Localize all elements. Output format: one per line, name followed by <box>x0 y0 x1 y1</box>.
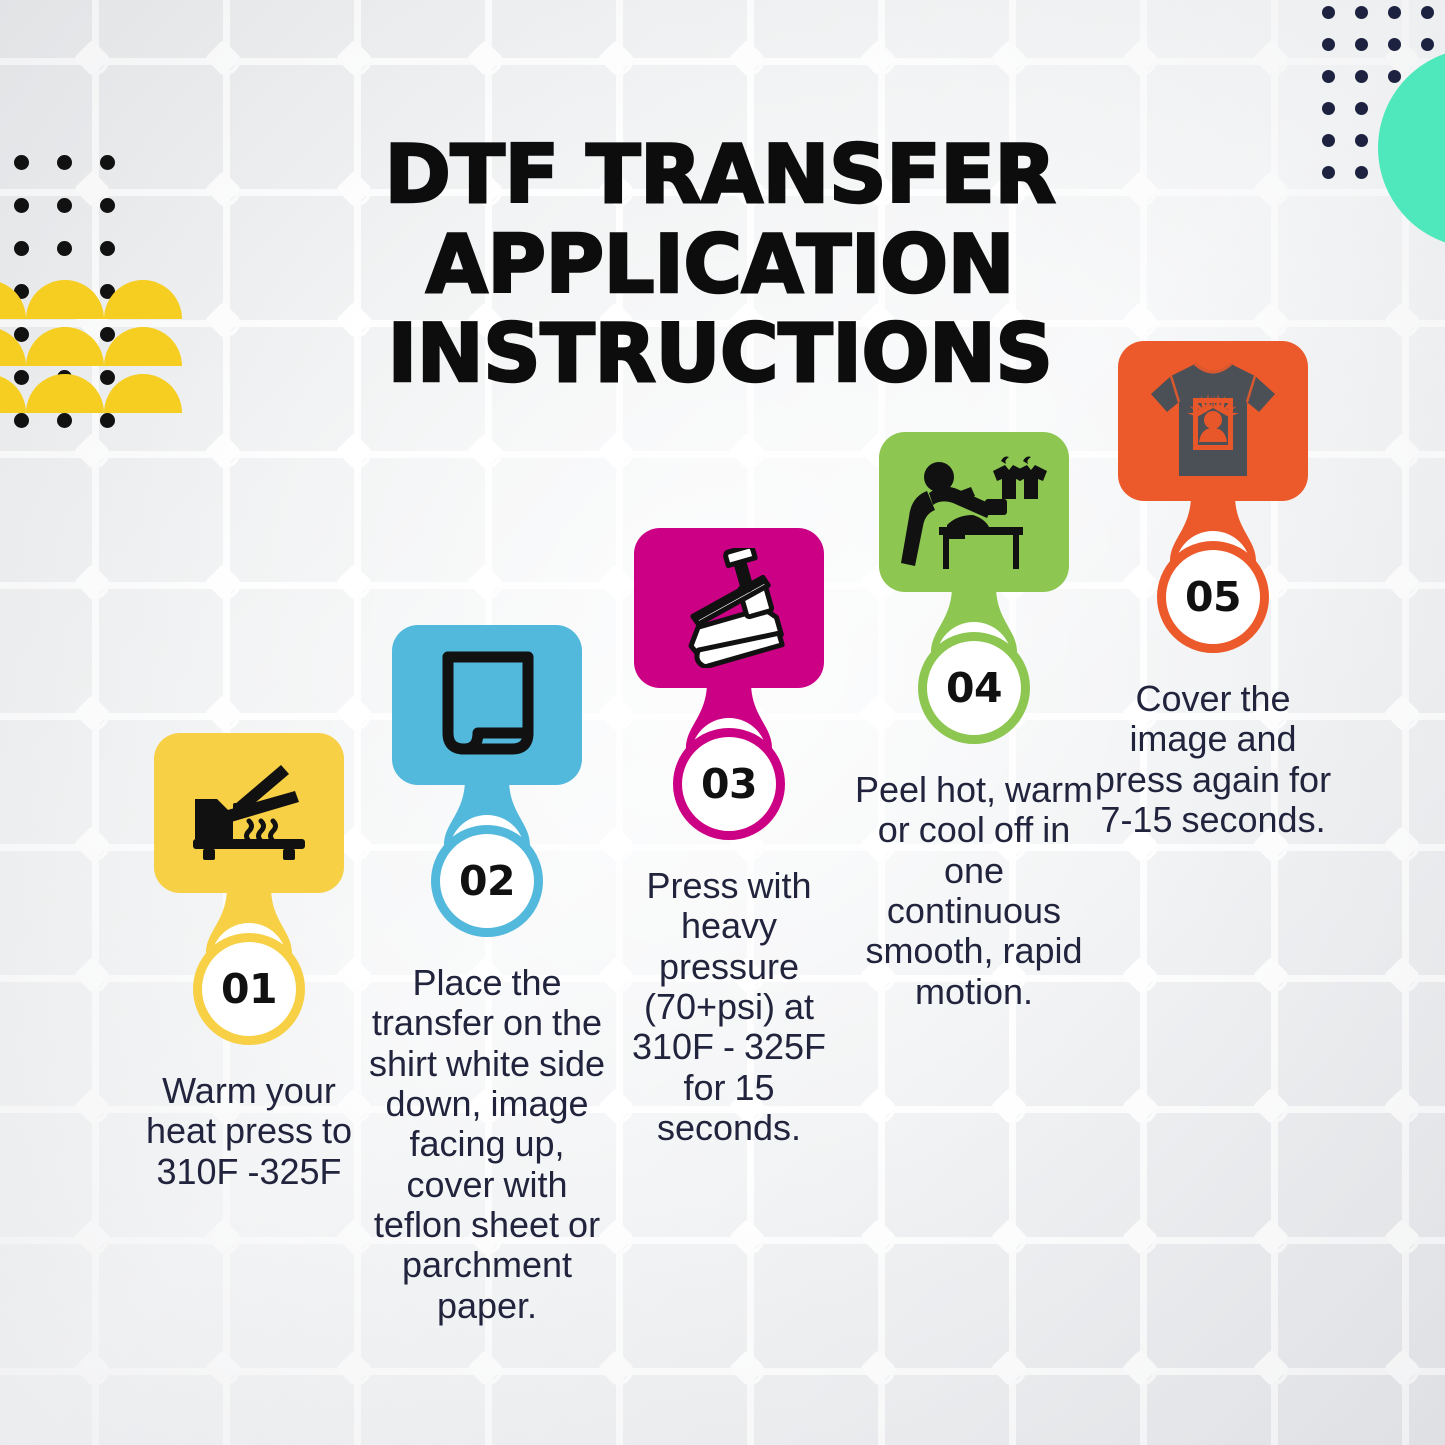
step-number-04: 04 <box>946 668 1002 709</box>
step-pin-02: 02 <box>362 625 612 937</box>
step-number-badge-04: 04 <box>918 632 1030 744</box>
step-caption-01: Warm your heat press to 310F -325F <box>124 1071 374 1192</box>
step-number-02: 02 <box>459 861 515 902</box>
step-item-01[interactable]: 01 Warm your heat press to 310F -325F <box>124 733 374 1192</box>
page-title-line-2: INSTRUCTIONS <box>140 309 1300 399</box>
step-item-05[interactable]: 05 Cover the image and press again for 7… <box>1088 341 1338 840</box>
page-title-line-1: DTF TRANSFER APPLICATION <box>140 130 1300 309</box>
infographic-poster: DTF TRANSFER APPLICATION INSTRUCTIONS <box>0 0 1445 1445</box>
step-caption-04: Peel hot, warm or cool off in one contin… <box>849 770 1099 1012</box>
step-number-01: 01 <box>221 969 277 1010</box>
peel-transfer-icon <box>899 449 1049 575</box>
step-number-03: 03 <box>701 764 757 805</box>
step-icon-card-02[interactable] <box>392 625 582 785</box>
step-caption-03: Press with heavy pressure (70+psi) at 31… <box>604 866 854 1148</box>
step-item-02[interactable]: 02 Place the transfer on the shirt white… <box>362 625 612 1326</box>
heat-press-icon <box>187 761 311 865</box>
step-number-05: 05 <box>1185 577 1241 618</box>
step-number-badge-02: 02 <box>431 825 543 937</box>
heat-press-machine-icon <box>666 548 792 668</box>
step-number-badge-01: 01 <box>193 933 305 1045</box>
step-icon-card-04[interactable] <box>879 432 1069 592</box>
step-pin-01: 01 <box>124 733 374 1045</box>
step-pin-03: 03 <box>604 528 854 840</box>
step-icon-card-01[interactable] <box>154 733 344 893</box>
step-caption-02: Place the transfer on the shirt white si… <box>362 963 612 1326</box>
page-title: DTF TRANSFER APPLICATION INSTRUCTIONS <box>140 130 1300 399</box>
step-number-badge-05: 05 <box>1157 541 1269 653</box>
step-number-badge-03: 03 <box>673 728 785 840</box>
step-pin-04: 04 <box>849 432 1099 744</box>
step-icon-card-03[interactable] <box>634 528 824 688</box>
step-caption-05: Cover the image and press again for 7-15… <box>1088 679 1338 840</box>
step-item-04[interactable]: 04 Peel hot, warm or cool off in one con… <box>849 432 1099 1012</box>
transfer-sheet-icon <box>429 647 545 763</box>
step-item-03[interactable]: 03 Press with heavy pressure (70+psi) at… <box>604 528 854 1148</box>
